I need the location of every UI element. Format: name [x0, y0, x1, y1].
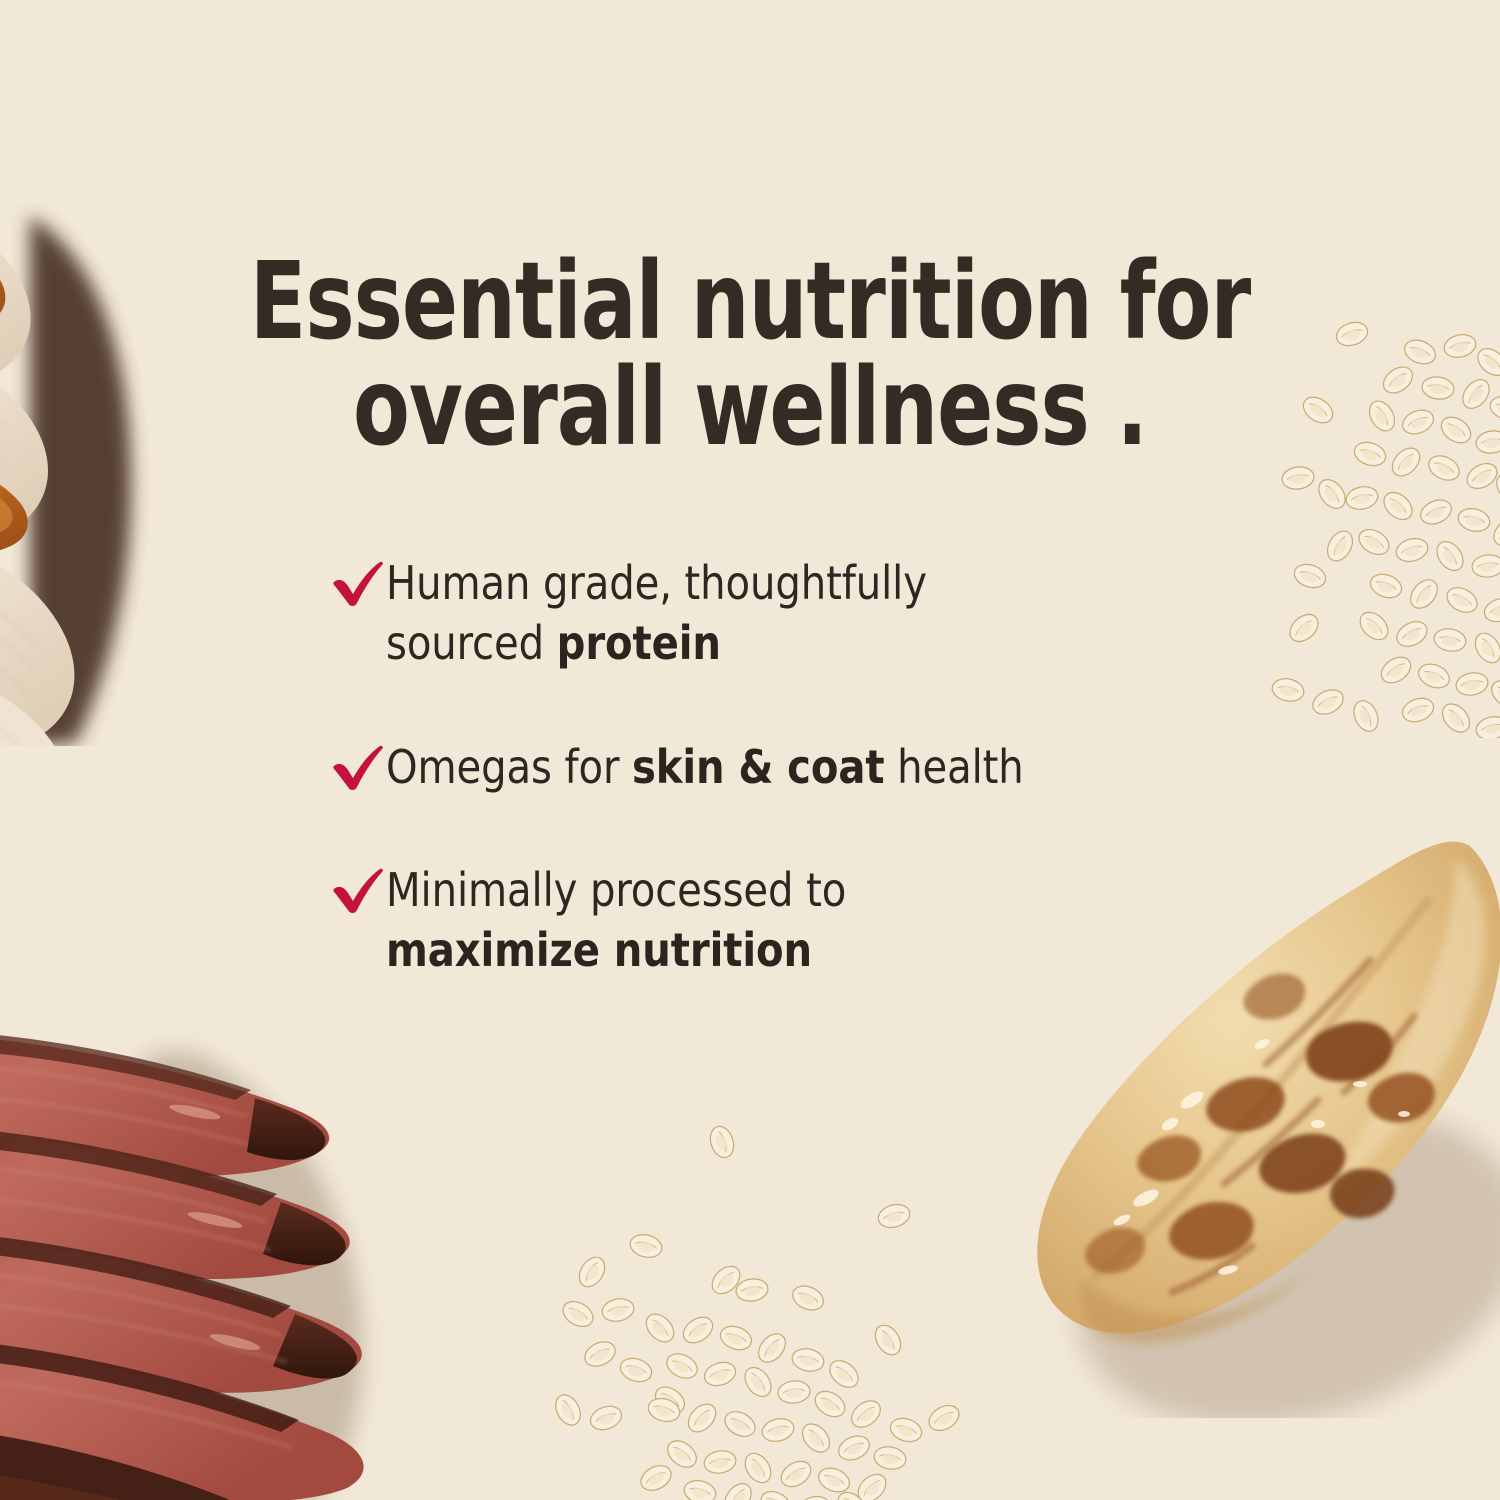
check-icon [330, 740, 386, 794]
list-item-label: Human grade, thoughtfully sourced protei… [386, 552, 927, 674]
page-title: Essential nutrition for overall wellness… [105, 250, 1395, 462]
rolled-oats-scatter-image [540, 1118, 980, 1500]
list-item: Omegas for skin & coat health [330, 736, 1230, 798]
list-item: Minimally processed to maximize nutritio… [330, 859, 1230, 981]
sliced-beef-steak-image [0, 1012, 465, 1500]
promo-banner: Essential nutrition for overall wellness… [0, 0, 1500, 1500]
check-icon [330, 863, 386, 917]
list-item-label: Minimally processed to maximize nutritio… [386, 859, 846, 981]
list-item-label: Omegas for skin & coat health [386, 736, 1024, 798]
list-item: Human grade, thoughtfully sourced protei… [330, 552, 1230, 674]
check-icon [330, 556, 386, 610]
benefits-list: Human grade, thoughtfully sourced protei… [330, 552, 1230, 981]
